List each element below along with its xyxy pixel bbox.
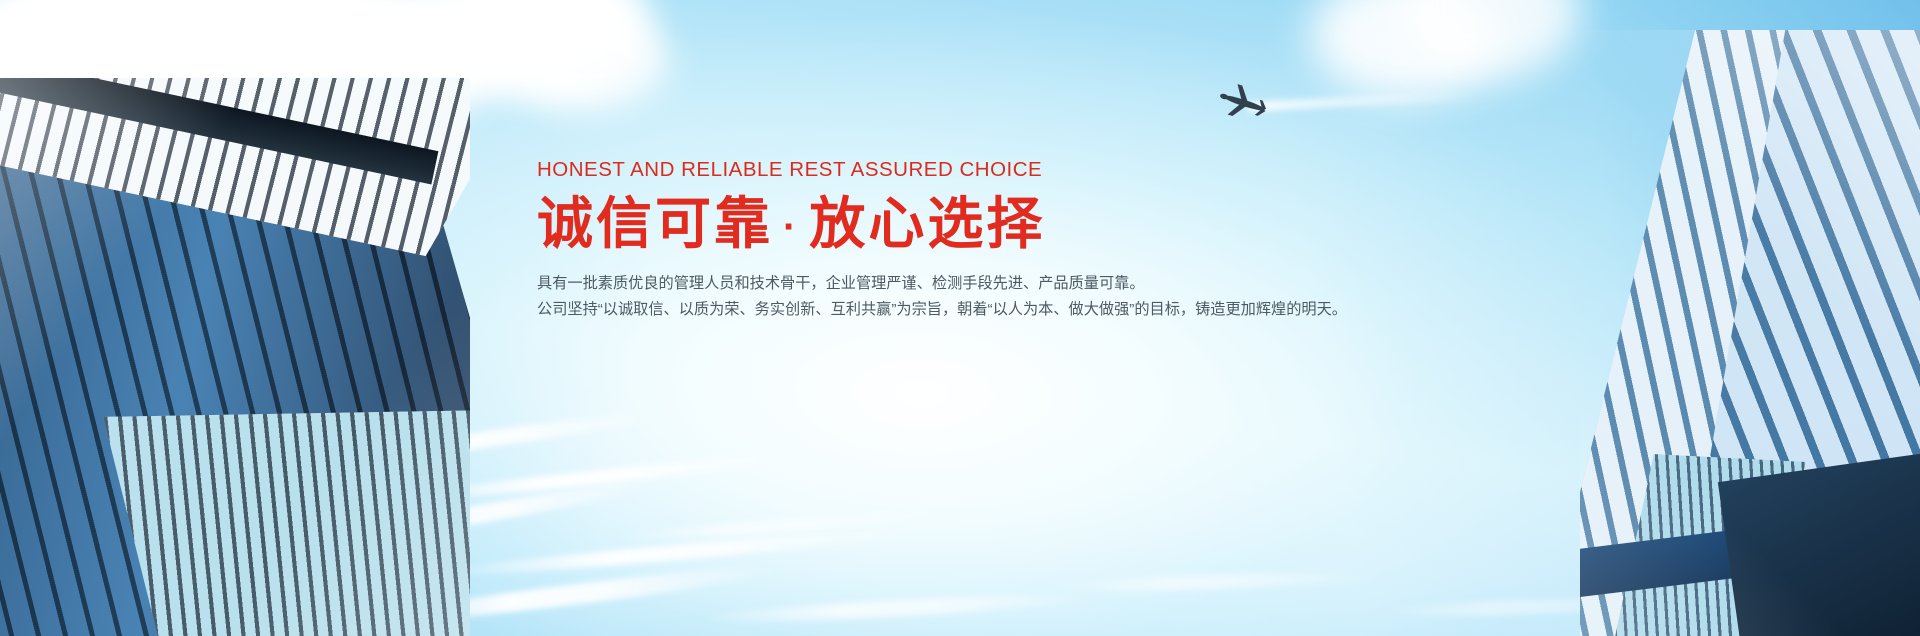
body-line-2: 公司坚持“以诚取信、以质为荣、务实创新、互利共赢”为宗旨，朝着“以人为本、做大做… xyxy=(537,297,1357,323)
body-line-1: 具有一批素质优良的管理人员和技术骨干，企业管理严谨、检测手段先进、产品质量可靠。 xyxy=(537,271,1357,297)
left-building-lower-block xyxy=(103,409,470,636)
headline-left: 诚信可靠 xyxy=(537,192,773,255)
right-building-shadow-block xyxy=(1718,452,1920,636)
right-building xyxy=(1580,30,1920,636)
body-copy: 具有一批素质优良的管理人员和技术骨干，企业管理严谨、检测手段先进、产品质量可靠。… xyxy=(537,271,1357,323)
left-building xyxy=(0,78,470,636)
banner-copy: HONEST AND RELIABLE REST ASSURED CHOICE … xyxy=(537,157,1357,323)
cumulus-cloud xyxy=(1290,0,1590,130)
headline-separator: · xyxy=(773,205,809,249)
english-tagline: HONEST AND RELIABLE REST ASSURED CHOICE xyxy=(537,157,1357,183)
hero-banner: HONEST AND RELIABLE REST ASSURED CHOICE … xyxy=(0,0,1920,636)
airplane-group xyxy=(1214,82,1284,128)
headline: 诚信可靠·放心选择 xyxy=(537,191,1357,257)
headline-right: 放心选择 xyxy=(809,192,1045,255)
airplane-icon xyxy=(1209,74,1279,132)
